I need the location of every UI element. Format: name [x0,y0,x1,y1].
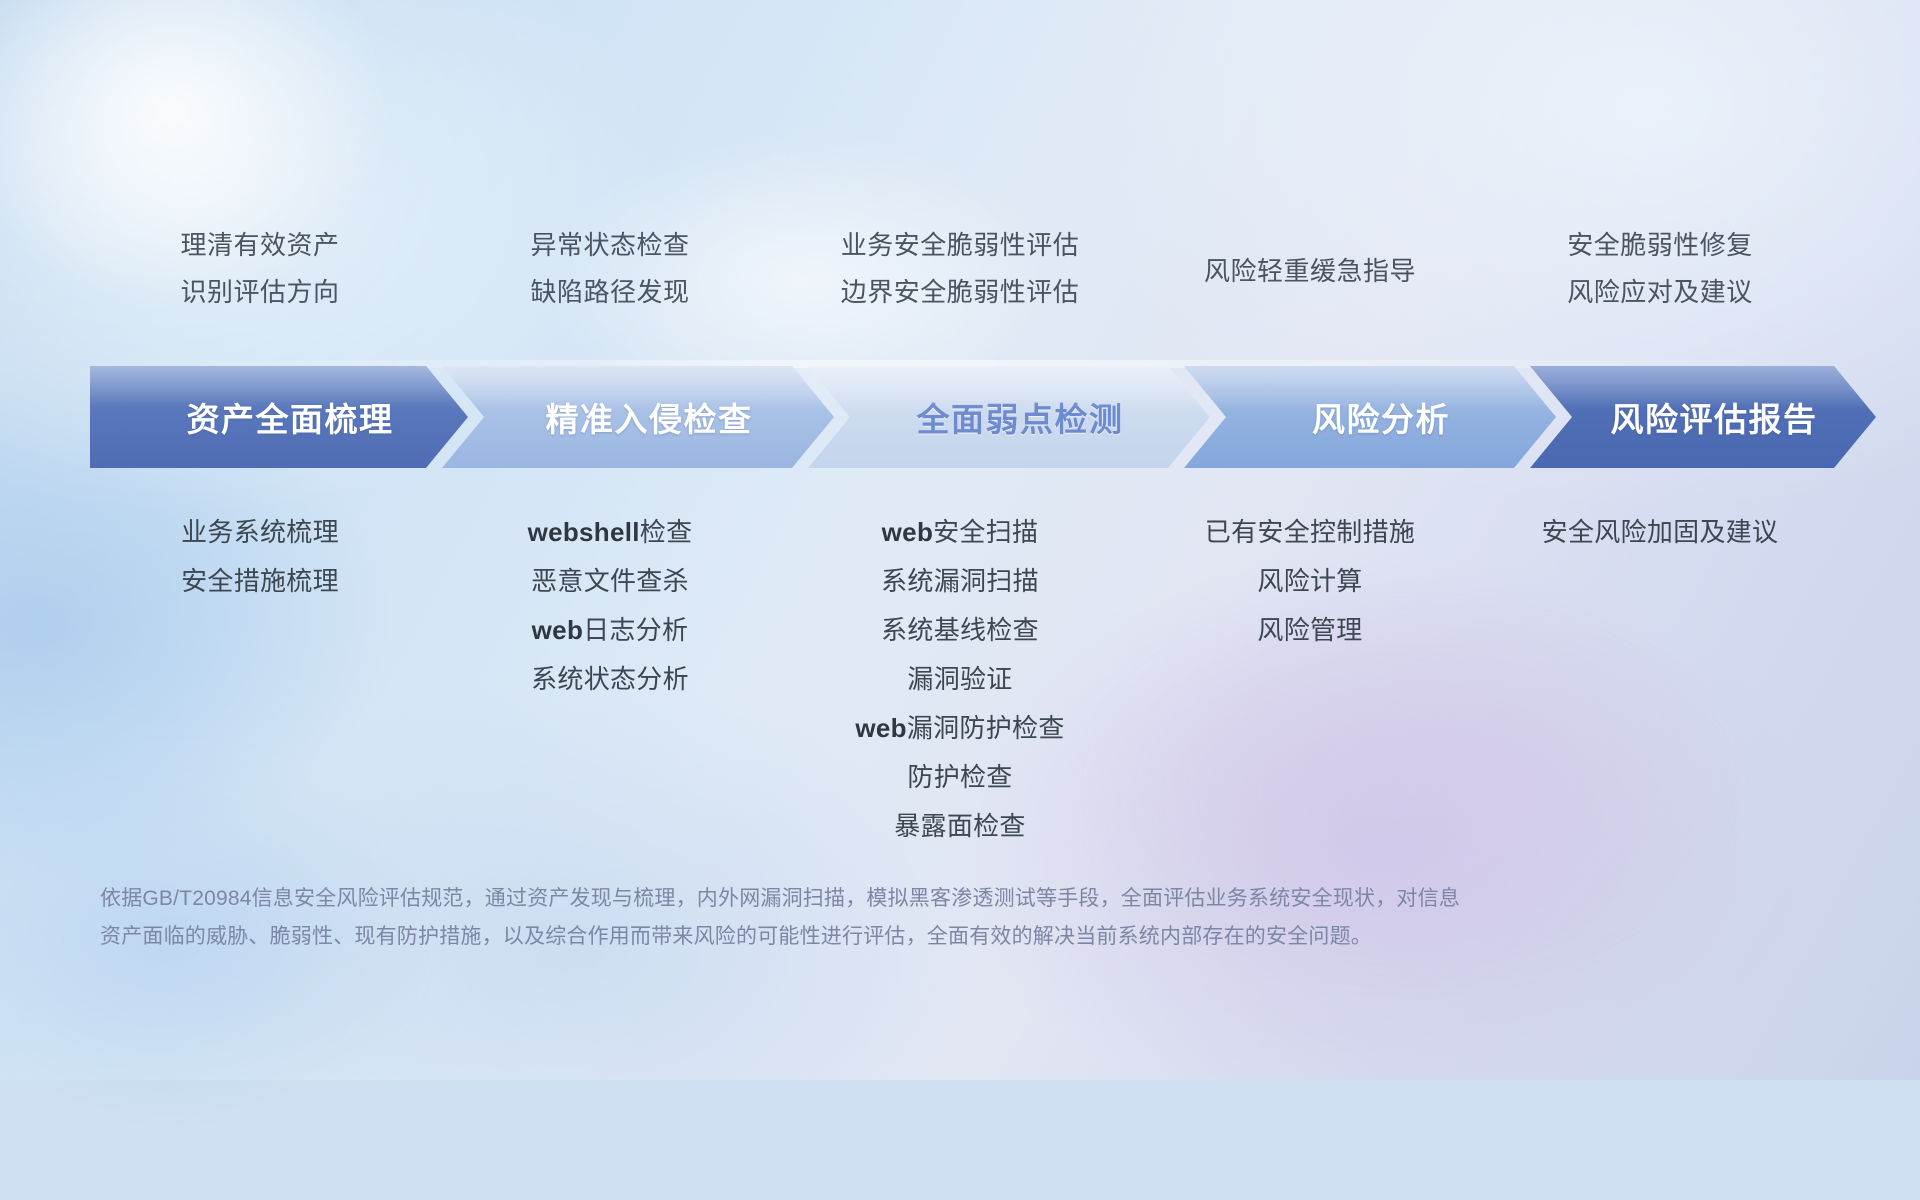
stage-title: 精准入侵检查 [546,393,753,441]
top-item: 识别评估方向 [180,275,339,310]
top-item: 缺陷路径发现 [530,275,689,310]
bottom-col-5: 安全风险加固及建议 [1485,508,1835,851]
bottom-col-3: web安全扫描系统漏洞扫描系统基线检查漏洞验证web漏洞防护检查防护检查暴露面检… [785,508,1135,851]
top-col-2: 异常状态检查 缺陷路径发现 [435,228,785,310]
top-col-4: 风险轻重缓急指导 [1135,228,1485,310]
bottom-item: 安全风险加固及建议 [1542,508,1779,557]
glow-top-left [0,0,480,390]
bottom-item: 系统状态分析 [531,655,689,704]
top-item: 异常状态检查 [530,228,689,263]
bottom-item: webshell检查 [528,508,693,557]
bottom-item: web日志分析 [532,606,689,655]
bottom-item: 安全措施梳理 [181,557,339,606]
bottom-item: 漏洞验证 [907,655,1012,704]
bottom-col-1: 业务系统梳理安全措施梳理 [85,508,435,851]
bottom-col-4: 已有安全控制措施风险计算风险管理 [1135,508,1485,851]
bottom-item: 风险管理 [1257,606,1362,655]
bottom-item: 已有安全控制措施 [1205,508,1415,557]
stage-arrow-4[interactable]: 风险分析 [1184,366,1556,468]
bottom-detail-row: 业务系统梳理安全措施梳理 webshell检查恶意文件查杀web日志分析系统状态… [0,508,1920,851]
footnote-line: 依据GB/T20984信息安全风险评估规范，通过资产发现与梳理，内外网漏洞扫描，… [100,880,1610,918]
bottom-item: 系统漏洞扫描 [881,557,1039,606]
top-item: 风险应对及建议 [1567,275,1753,310]
bottom-item: web漏洞防护检查 [855,704,1064,753]
top-label-row: 理清有效资产 识别评估方向 异常状态检查 缺陷路径发现 业务安全脆弱性评估 边界… [0,228,1920,310]
footnote-line: 资产面临的威胁、脆弱性、现有防护措施，以及综合作用而带来风险的可能性进行评估，全… [100,918,1610,956]
bottom-item: 业务系统梳理 [181,508,339,557]
bottom-item: 防护检查 [907,753,1012,802]
bottom-item: 风险计算 [1257,557,1362,606]
bottom-item: 暴露面检查 [894,802,1026,851]
top-col-3: 业务安全脆弱性评估 边界安全脆弱性评估 [785,228,1135,310]
stage-arrow-2[interactable]: 精准入侵检查 [442,366,834,468]
top-col-5: 安全脆弱性修复 风险应对及建议 [1485,228,1835,310]
bottom-item: 系统基线检查 [881,606,1039,655]
stage-title: 全面弱点检测 [917,393,1124,441]
bottom-col-2: webshell检查恶意文件查杀web日志分析系统状态分析 [435,508,785,851]
stage-title: 资产全面梳理 [187,393,394,441]
process-arrow-banner: 资产全面梳理 精准入侵检查 全面弱点检测 风险分析 风险评估报告 [90,366,1834,468]
stage-arrow-3[interactable]: 全面弱点检测 [808,366,1210,468]
top-item: 边界安全脆弱性评估 [841,275,1080,310]
stage-title: 风险分析 [1312,393,1450,441]
bottom-item: web安全扫描 [882,508,1039,557]
bottom-item: 恶意文件查杀 [531,557,689,606]
top-col-1: 理清有效资产 识别评估方向 [85,228,435,310]
top-item: 风险轻重缓急指导 [1204,254,1416,289]
top-item: 理清有效资产 [180,228,339,263]
top-item: 安全脆弱性修复 [1567,228,1753,263]
footnote-paragraph: 依据GB/T20984信息安全风险评估规范，通过资产发现与梳理，内外网漏洞扫描，… [100,880,1610,956]
top-item: 业务安全脆弱性评估 [841,228,1080,263]
stage-arrow-1[interactable]: 资产全面梳理 [90,366,468,468]
stage-title: 风险评估报告 [1611,393,1818,441]
stage-arrow-5[interactable]: 风险评估报告 [1530,366,1876,468]
